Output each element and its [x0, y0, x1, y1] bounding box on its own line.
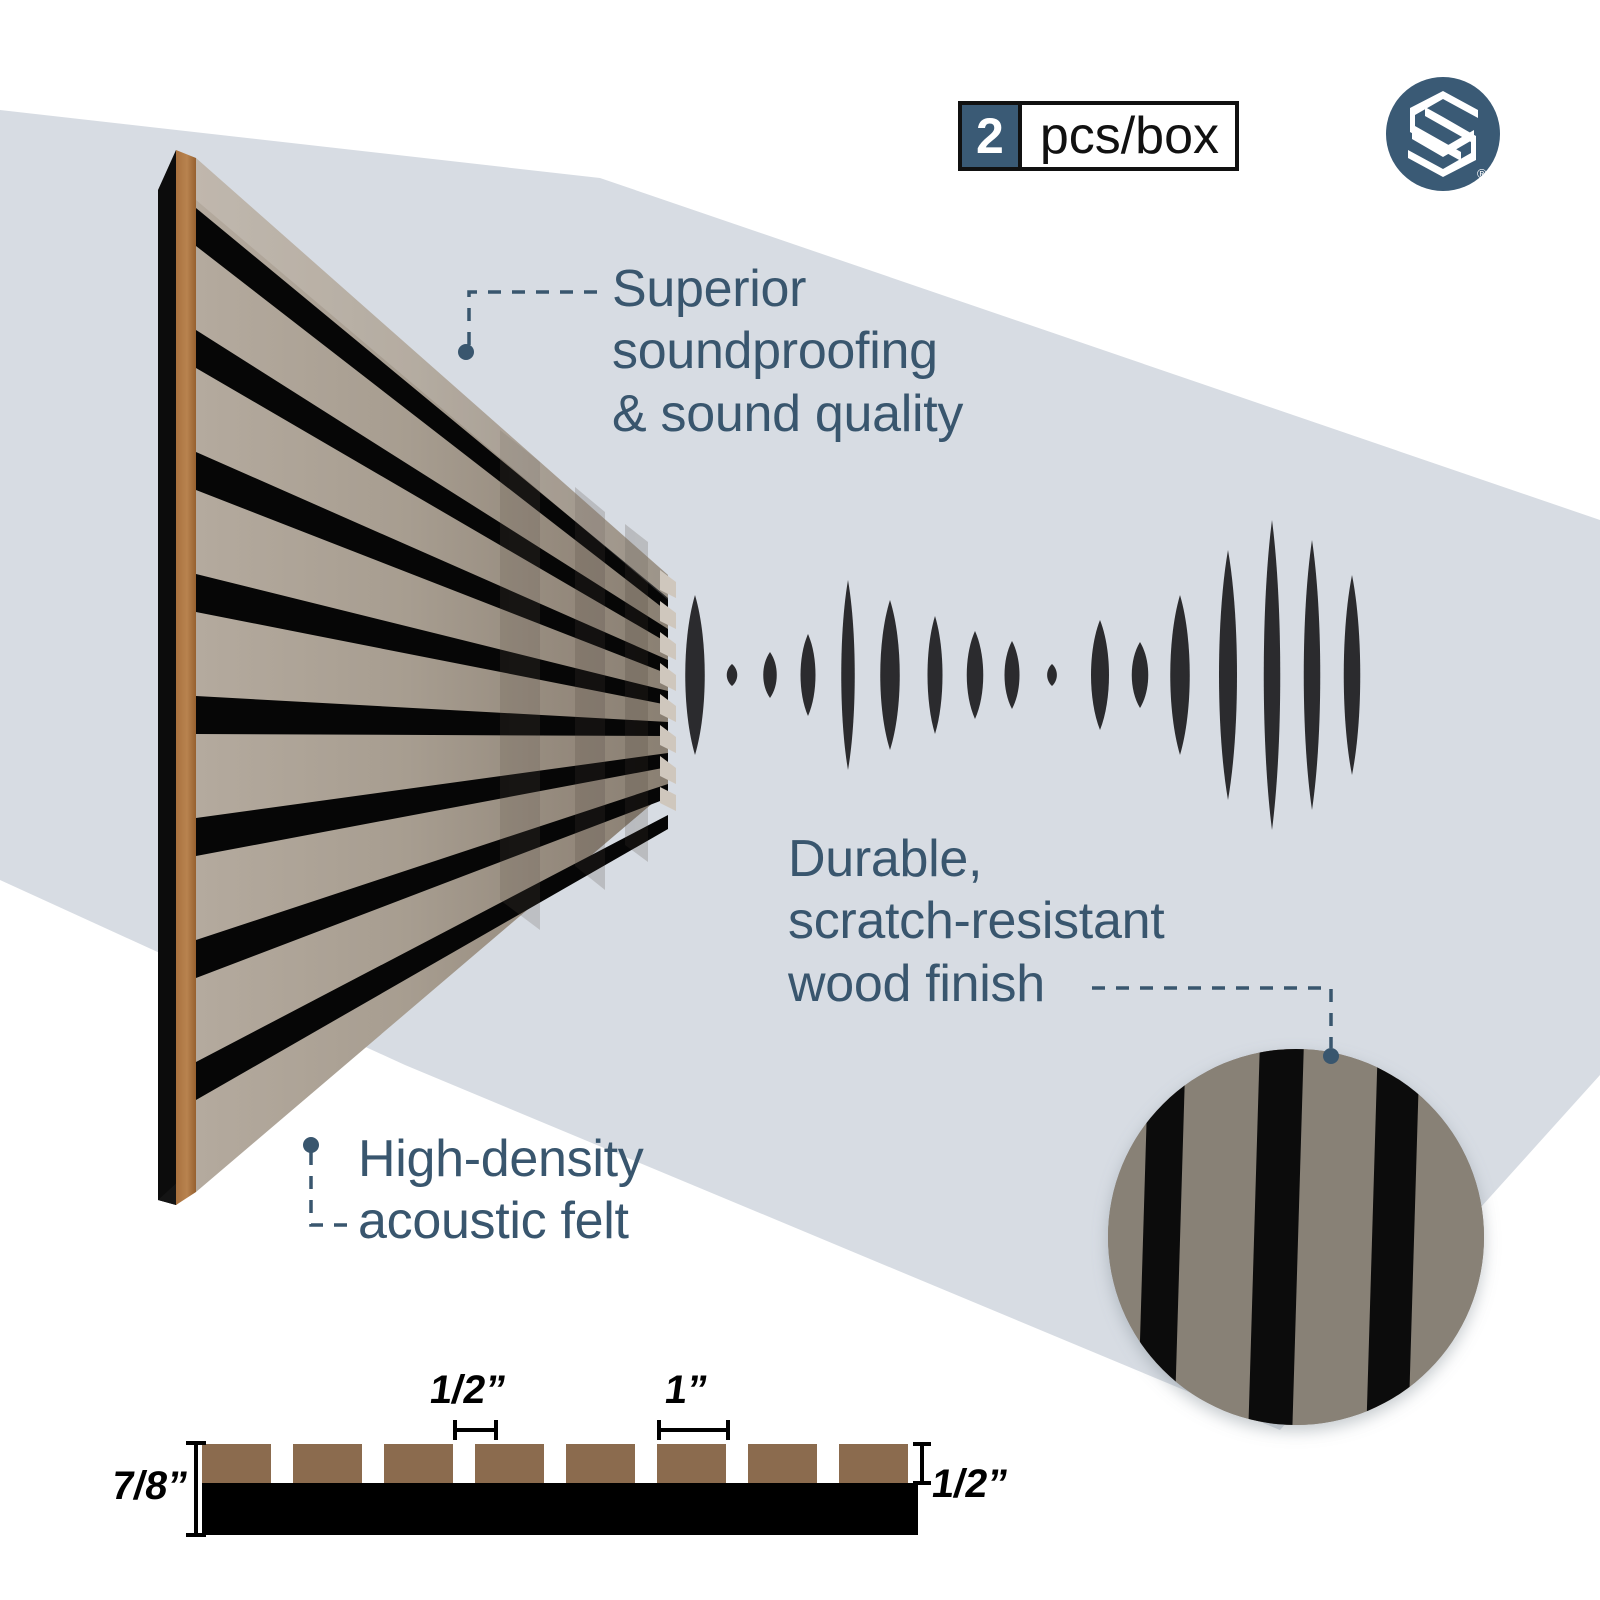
infographic-canvas: ® 2 pcs/box Superior soundproofing & sou…	[0, 0, 1600, 1600]
callout-wood-finish: Durable, scratch-resistant wood finish	[788, 828, 1164, 1015]
registered-mark: ®	[1477, 166, 1487, 181]
dim-label-slat-height: 1/2”	[929, 1462, 1011, 1507]
callout-soundproofing: Superior soundproofing & sound quality	[612, 258, 963, 445]
callout-acoustic-felt: High-density acoustic felt	[358, 1128, 643, 1253]
dim-label-total-thickness: 7/8”	[109, 1464, 191, 1509]
brand-logo[interactable]: ®	[0, 0, 1600, 1600]
badge-quantity: 2	[962, 105, 1022, 167]
badge-unit: pcs/box	[1022, 105, 1235, 167]
quantity-badge: 2 pcs/box	[958, 101, 1239, 171]
dim-label-gap-width: 1/2”	[427, 1368, 509, 1413]
dim-label-slat-width: 1”	[662, 1368, 711, 1413]
